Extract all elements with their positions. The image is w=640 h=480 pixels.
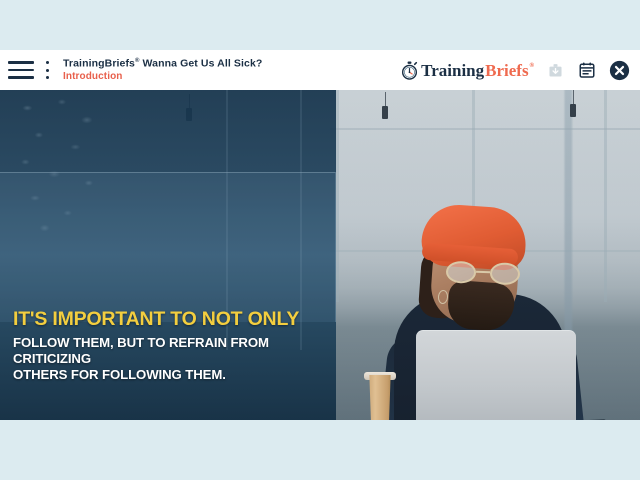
slide-body-line: FOLLOW THEM, BUT TO REFRAIN FROM CRITICI… (13, 335, 328, 367)
slide-body: FOLLOW THEM, BUT TO REFRAIN FROM CRITICI… (13, 335, 328, 383)
download-icon[interactable] (544, 59, 566, 81)
window-mullion (604, 90, 607, 302)
hamburger-menu-icon[interactable] (8, 61, 34, 79)
hamburger-line (8, 69, 34, 72)
player-header: TrainingBriefs® Wanna Get Us All Sick? I… (0, 50, 640, 90)
glasses-lens (446, 261, 477, 284)
more-options-icon[interactable] (40, 61, 54, 79)
kebab-dot (46, 76, 49, 79)
glasses-lens (490, 262, 521, 285)
window-frame-bar (330, 128, 640, 130)
glasses-bridge (476, 271, 490, 273)
hamburger-line (8, 61, 34, 64)
kebab-dot (46, 61, 49, 64)
logo-word-briefs: Briefs (485, 62, 528, 79)
notes-icon[interactable] (576, 59, 598, 81)
course-title: TrainingBriefs® Wanna Get Us All Sick? (63, 58, 262, 70)
slide-stage: IT'S IMPORTANT TO NOT ONLY FOLLOW THEM, … (0, 90, 640, 420)
header-title-group: TrainingBriefs® Wanna Get Us All Sick? I… (63, 58, 262, 82)
module-subtitle: Introduction (63, 71, 262, 82)
logo-wordmark: Training Briefs ® (421, 62, 534, 79)
slide-headline: IT'S IMPORTANT TO NOT ONLY (13, 309, 328, 330)
app-viewport: TrainingBriefs® Wanna Get Us All Sick? I… (0, 0, 640, 480)
pendant-light-icon (570, 104, 576, 117)
coffee-cup (367, 375, 393, 420)
laptop-screen (416, 330, 576, 420)
slide-copy: IT'S IMPORTANT TO NOT ONLY FOLLOW THEM, … (13, 309, 328, 383)
stopwatch-icon (400, 61, 419, 80)
kebab-dot (46, 69, 49, 72)
close-icon[interactable] (608, 59, 630, 81)
logo-word-training: Training (421, 62, 484, 79)
logo-registered-mark: ® (530, 63, 534, 69)
hamburger-line (8, 76, 34, 79)
top-background-band (0, 0, 640, 50)
header-left-group: TrainingBriefs® Wanna Get Us All Sick? I… (8, 58, 262, 82)
course-title-brand: TrainingBriefs (63, 57, 135, 69)
window-mullion (336, 90, 339, 302)
bottom-background-band (0, 420, 640, 480)
overlay-texture (12, 90, 108, 240)
trainingbriefs-logo: Training Briefs ® (400, 61, 534, 80)
header-right-group: Training Briefs ® (400, 59, 630, 81)
slide-body-line: OTHERS FOR FOLLOWING THEM. (13, 367, 328, 383)
person-glasses (446, 261, 523, 286)
pendant-light-icon (382, 106, 388, 119)
course-title-rest: Wanna Get Us All Sick? (140, 57, 263, 69)
